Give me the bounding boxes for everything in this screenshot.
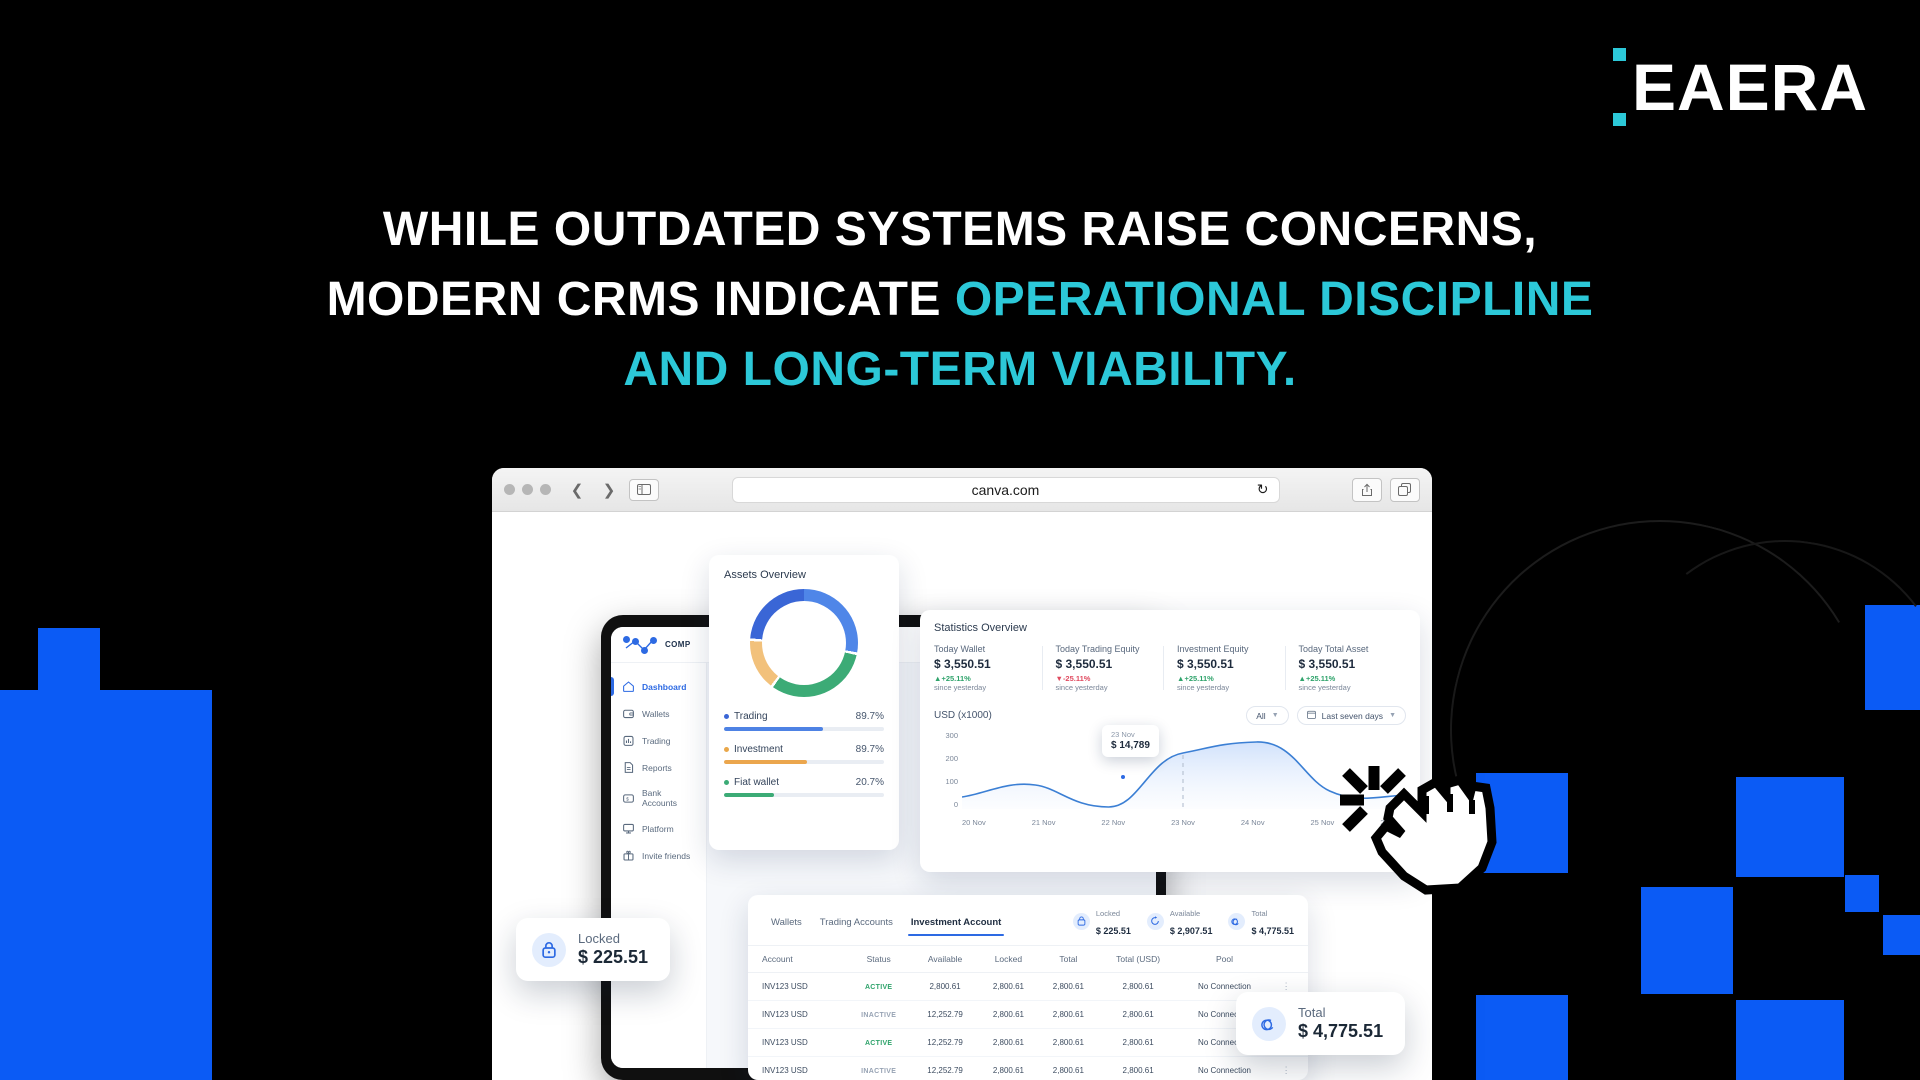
brand-name: EAERA [1632, 48, 1868, 126]
gift-icon [622, 849, 635, 862]
table-row[interactable]: INV123 USD ACTIVE 2,800.61 2,800.61 2,80… [748, 973, 1308, 1001]
cell-locked: 2,800.61 [978, 973, 1038, 1001]
legend-dot-fiat-wallet [724, 780, 729, 785]
col-locked: Locked [978, 946, 1038, 973]
sidebar-item-wallets[interactable]: Wallets [611, 700, 706, 727]
cell-total-usd: 2,800.61 [1098, 1057, 1178, 1080]
chart-tooltip: 23 Nov $ 14,789 [1102, 725, 1159, 757]
y-tick: 100 [934, 777, 958, 786]
table-row[interactable]: INV123 USD ACTIVE 12,252.79 2,800.61 2,8… [748, 1029, 1308, 1057]
wallet-icon [622, 707, 635, 720]
statistics-overview-title: Statistics Overview [934, 622, 1406, 634]
summary-locked: Locked $ 225.51 [1073, 903, 1131, 939]
decor-square-left-top [38, 628, 100, 690]
cell-available: 2,800.61 [912, 973, 979, 1001]
summary-value: $ 4,775.51 [1251, 926, 1294, 936]
kpi-value: $ 3,550.51 [1056, 657, 1156, 671]
headline-line-3-accent: AND LONG-TERM VIABILITY [623, 343, 1282, 396]
forward-icon[interactable]: ❯ [597, 478, 621, 502]
x-tick: 24 Nov [1241, 818, 1265, 827]
kpi-subtext: since yesterday [934, 683, 1034, 692]
x-tick: 25 Nov [1311, 818, 1335, 827]
decor-block-left [0, 690, 212, 1080]
cell-account: INV123 USD [748, 973, 846, 1001]
rings-icon [1252, 1007, 1286, 1041]
sidebar-item-label: Bank Accounts [642, 788, 698, 808]
kpi-today-total-asset: Today Total Asset $ 3,550.51 ▲+25.11% si… [1285, 644, 1407, 692]
cell-available: 12,252.79 [912, 1001, 979, 1029]
app-brand-name: COMP [665, 640, 691, 649]
summary-total: Total $ 4,775.51 [1228, 903, 1294, 939]
app-logo-icon [623, 636, 657, 654]
headline-line-2: MODERN CRMS INDICATE OPERATIONAL DISCIPL… [0, 265, 1920, 335]
decor-square-right-7 [1476, 995, 1568, 1080]
table-header-row: Account Status Available Locked Total To… [748, 946, 1308, 973]
col-total: Total [1038, 946, 1098, 973]
legend-label: Fiat wallet [734, 777, 779, 788]
kpi-value: $ 3,550.51 [934, 657, 1034, 671]
sidebar-item-label: Wallets [642, 709, 670, 719]
chart-x-axis: 20 Nov 21 Nov 22 Nov 23 Nov 24 Nov 25 No… [962, 818, 1404, 827]
legend-bar-investment [724, 760, 884, 764]
logo-mark-icon [1613, 48, 1626, 126]
sidebar-item-label: Invite friends [642, 851, 690, 861]
cell-available: 12,252.79 [912, 1029, 979, 1057]
floating-card-value: $ 4,775.51 [1298, 1021, 1383, 1042]
cell-status: ACTIVE [846, 1029, 912, 1057]
cell-status: INACTIVE [846, 1057, 912, 1080]
x-tick: 23 Nov [1171, 818, 1195, 827]
app-sidebar: Dashboard Wallets Tradin [611, 663, 707, 1068]
address-bar[interactable]: canva.com ↻ [732, 477, 1280, 503]
tooltip-date: 23 Nov [1111, 730, 1150, 739]
kpi-today-wallet: Today Wallet $ 3,550.51 ▲+25.11% since y… [934, 644, 1042, 692]
y-tick: 300 [934, 731, 958, 740]
tooltip-value: $ 14,789 [1111, 740, 1150, 751]
accounts-table-card: Wallets Trading Accounts Investment Acco… [748, 895, 1308, 1080]
tab-wallets[interactable]: Wallets [762, 913, 811, 936]
cell-account: INV123 USD [748, 1001, 846, 1029]
col-status: Status [846, 946, 912, 973]
kpi-label: Today Total Asset [1299, 644, 1399, 654]
chart-header: USD (x1000) All ▼ Last seven days ▼ [934, 706, 1406, 725]
floating-card-label: Locked [578, 931, 648, 946]
chevron-down-icon: ▼ [1272, 712, 1279, 719]
legend-item-trading: Trading 89.7% [724, 711, 884, 731]
accounts-tabs: Wallets Trading Accounts Investment Acco… [748, 895, 1308, 946]
toolbar-right-group [1352, 478, 1420, 502]
document-icon [622, 761, 635, 774]
col-actions [1271, 946, 1308, 973]
x-tick: 20 Nov [962, 818, 986, 827]
kpi-delta: ▲+25.11% [934, 674, 1034, 683]
share-icon[interactable] [1352, 478, 1382, 502]
chart-svg [962, 731, 1404, 809]
sidebar-item-trading[interactable]: Trading [611, 727, 706, 754]
assets-donut-chart [750, 589, 858, 697]
headline-line-1: WHILE OUTDATED SYSTEMS RAISE CONCERNS, [0, 195, 1920, 265]
kpi-label: Today Wallet [934, 644, 1034, 654]
home-icon [622, 680, 635, 693]
refresh-icon [1147, 913, 1164, 930]
table-row[interactable]: INV123 USD INACTIVE 12,252.79 2,800.61 2… [748, 1057, 1308, 1080]
bank-card-icon: $ [622, 792, 635, 805]
chart-data-point [1119, 773, 1127, 781]
col-account: Account [748, 946, 846, 973]
cell-total: 2,800.61 [1038, 1029, 1098, 1057]
accounts-table-body: INV123 USD ACTIVE 2,800.61 2,800.61 2,80… [748, 973, 1308, 1080]
x-tick: 21 Nov [1032, 818, 1056, 827]
cell-total-usd: 2,800.61 [1098, 1029, 1178, 1057]
chart-unit-label: USD (x1000) [934, 710, 992, 721]
y-tick: 0 [934, 800, 958, 809]
back-icon[interactable]: ❮ [565, 478, 589, 502]
legend-item-fiat-wallet: Fiat wallet 20.7% [724, 777, 884, 797]
floating-card-value: $ 225.51 [578, 947, 648, 968]
statistics-overview-card: Statistics Overview Today Wallet $ 3,550… [920, 610, 1420, 872]
x-tick: 26 Nov [1380, 818, 1404, 827]
cell-total: 2,800.61 [1038, 973, 1098, 1001]
tab-trading-accounts[interactable]: Trading Accounts [811, 913, 902, 936]
col-total-usd: Total (USD) [1098, 946, 1178, 973]
summary-label: Locked [1096, 909, 1120, 918]
kpi-subtext: since yesterday [1056, 683, 1156, 692]
decor-square-right-8 [1736, 1000, 1844, 1080]
kpi-subtext: since yesterday [1299, 683, 1399, 692]
kpi-row: Today Wallet $ 3,550.51 ▲+25.11% since y… [934, 644, 1406, 692]
cell-available: 12,252.79 [912, 1057, 979, 1080]
legend-label: Investment [734, 744, 783, 755]
legend-item-investment: Investment 89.7% [724, 744, 884, 764]
headline-period: . [1283, 343, 1297, 396]
kpi-subtext: since yesterday [1177, 683, 1277, 692]
cell-account: INV123 USD [748, 1029, 846, 1057]
legend-label: Trading [734, 711, 768, 722]
chart-filter-all[interactable]: All ▼ [1246, 706, 1288, 725]
sidebar-item-reports[interactable]: Reports [611, 754, 706, 781]
equity-area-chart[interactable]: 300 200 100 0 23 Nov $ 14,789 [934, 731, 1406, 827]
legend-value: 20.7% [856, 777, 884, 788]
chart-bar-icon [622, 734, 635, 747]
reload-icon[interactable]: ↻ [1257, 481, 1269, 498]
chart-plot-area [962, 731, 1404, 809]
chart-date-range-label: Last seven days [1322, 711, 1383, 721]
kpi-today-trading-equity: Today Trading Equity $ 3,550.51 ▼-25.11%… [1042, 644, 1164, 692]
assets-donut-wrap [724, 589, 884, 697]
lock-icon [1073, 913, 1090, 930]
browser-toolbar: ❮ ❯ canva.com ↻ [492, 468, 1432, 512]
floating-card-locked: Locked $ 225.51 [516, 918, 670, 981]
tabs-icon[interactable] [1390, 478, 1420, 502]
decor-square-right-4 [1845, 875, 1879, 912]
cell-locked: 2,800.61 [978, 1029, 1038, 1057]
col-available: Available [912, 946, 979, 973]
decor-square-right-5 [1883, 915, 1920, 955]
lock-icon [532, 933, 566, 967]
table-row[interactable]: INV123 USD INACTIVE 12,252.79 2,800.61 2… [748, 1001, 1308, 1029]
sidebar-item-label: Reports [642, 763, 672, 773]
kpi-value: $ 3,550.51 [1299, 657, 1399, 671]
svg-text:$: $ [626, 796, 629, 802]
assets-overview-card: Assets Overview Trading 89.7% Investment… [709, 555, 899, 850]
chart-controls: All ▼ Last seven days ▼ [1246, 706, 1406, 725]
sidebar-item-invite-friends[interactable]: Invite friends [611, 842, 706, 869]
sidebar-item-label: Trading [642, 736, 671, 746]
cell-locked: 2,800.61 [978, 1001, 1038, 1029]
page-title: WHILE OUTDATED SYSTEMS RAISE CONCERNS, M… [0, 195, 1920, 405]
floating-card-label: Total [1298, 1005, 1383, 1020]
cell-pool: No Connection [1178, 1057, 1271, 1080]
calendar-icon [1307, 710, 1316, 721]
kpi-label: Investment Equity [1177, 644, 1277, 654]
y-tick: 200 [934, 754, 958, 763]
kpi-value: $ 3,550.51 [1177, 657, 1277, 671]
sidebar-item-platform[interactable]: Platform [611, 815, 706, 842]
summary-label: Total [1251, 909, 1267, 918]
summary-value: $ 225.51 [1096, 926, 1131, 936]
sidebar-item-dashboard[interactable]: Dashboard [611, 673, 706, 700]
summary-label: Available [1170, 909, 1200, 918]
headline-line-2-accent: OPERATIONAL DISCIPLINE [955, 273, 1594, 326]
kpi-investment-equity: Investment Equity $ 3,550.51 ▲+25.11% si… [1163, 644, 1285, 692]
cell-account: INV123 USD [748, 1057, 846, 1080]
legend-value: 89.7% [856, 711, 884, 722]
sidebar-item-label: Platform [642, 824, 674, 834]
tab-investment-account[interactable]: Investment Account [902, 913, 1010, 936]
brand-logo: EAERA [1613, 48, 1868, 126]
chart-filter-all-label: All [1256, 711, 1265, 721]
kpi-delta: ▲+25.11% [1177, 674, 1277, 683]
url-text: canva.com [972, 482, 1040, 498]
accounts-table-head: Account Status Available Locked Total To… [748, 946, 1308, 973]
x-tick: 22 Nov [1101, 818, 1125, 827]
headline-line-2-plain: MODERN CRMS INDICATE [327, 273, 955, 326]
sidebar-icon[interactable] [629, 479, 659, 501]
accounts-summaries: Locked $ 225.51 Available $ 2,907.51 T [1073, 903, 1294, 945]
cell-total: 2,800.61 [1038, 1057, 1098, 1080]
accounts-table: Account Status Available Locked Total To… [748, 946, 1308, 1080]
window-controls[interactable] [504, 484, 551, 495]
cell-status: ACTIVE [846, 973, 912, 1001]
kpi-delta: ▼-25.11% [1056, 674, 1156, 683]
chart-date-range[interactable]: Last seven days ▼ [1297, 706, 1406, 725]
assets-overview-title: Assets Overview [724, 569, 884, 581]
floating-card-total: Total $ 4,775.51 [1236, 992, 1405, 1055]
headline-line-3: AND LONG-TERM VIABILITY. [0, 335, 1920, 405]
legend-dot-trading [724, 714, 729, 719]
sidebar-item-label: Dashboard [642, 682, 686, 692]
cell-total-usd: 2,800.61 [1098, 973, 1178, 1001]
sidebar-item-bank-accounts[interactable]: $ Bank Accounts [611, 781, 706, 815]
legend-value: 89.7% [856, 744, 884, 755]
legend-dot-investment [724, 747, 729, 752]
monitor-icon [622, 822, 635, 835]
legend-bar-fiat-wallet [724, 793, 884, 797]
cell-total: 2,800.61 [1038, 1001, 1098, 1029]
rings-icon [1228, 913, 1245, 930]
summary-value: $ 2,907.51 [1170, 926, 1213, 936]
legend-bar-trading [724, 727, 884, 731]
cell-status: INACTIVE [846, 1001, 912, 1029]
summary-available: Available $ 2,907.51 [1147, 903, 1213, 939]
chevron-down-icon: ▼ [1389, 712, 1396, 719]
row-menu-icon[interactable]: ⋮ [1271, 1057, 1308, 1080]
col-pool: Pool [1178, 946, 1271, 973]
cell-locked: 2,800.61 [978, 1057, 1038, 1080]
kpi-delta: ▲+25.11% [1299, 674, 1399, 683]
chart-y-axis: 300 200 100 0 [934, 731, 958, 809]
kpi-label: Today Trading Equity [1056, 644, 1156, 654]
cell-total-usd: 2,800.61 [1098, 1001, 1178, 1029]
